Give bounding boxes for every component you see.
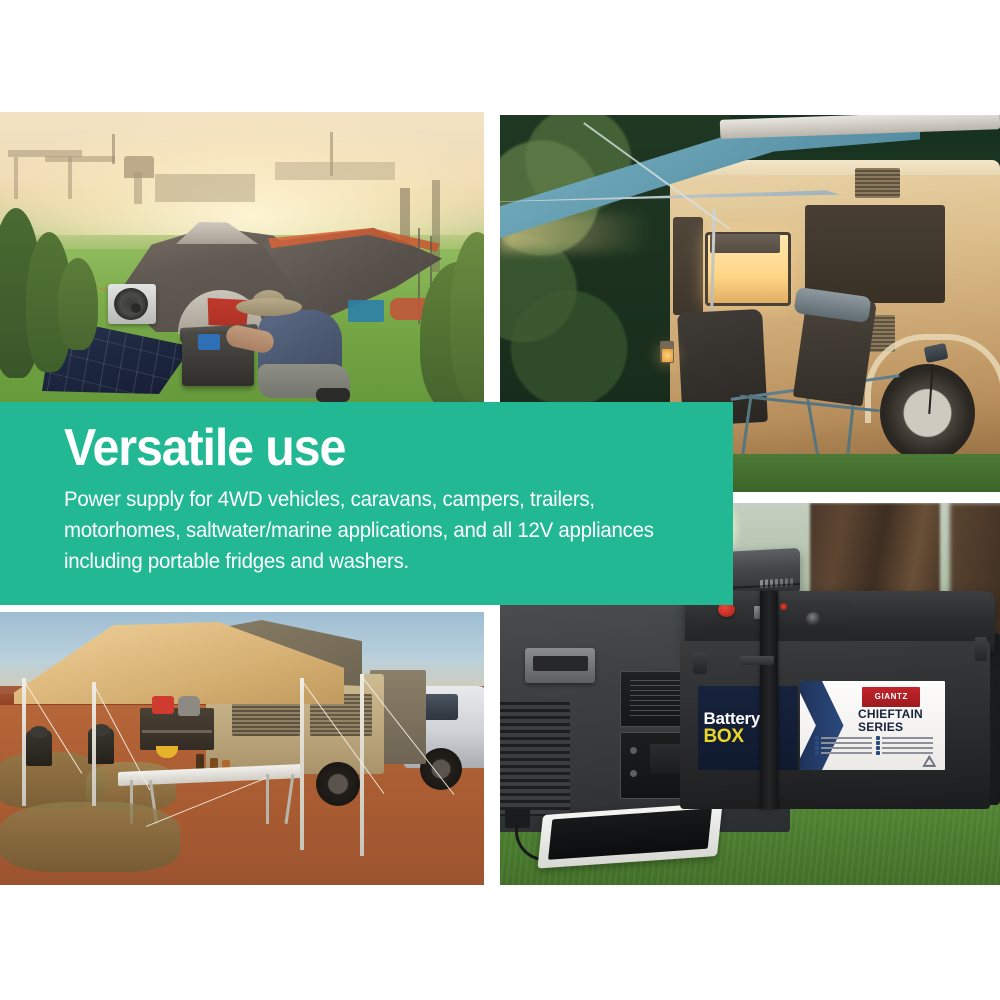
marketing-image-canvas: Battery BOX GIANTZ CHIEFTAIN SERIES [0, 0, 1000, 1000]
feature-item [815, 751, 872, 755]
banner-body-text: Power supply for 4WD vehicles, caravans,… [64, 484, 662, 576]
person-seated [30, 726, 48, 738]
handle-recess [533, 656, 588, 671]
background-building [275, 162, 395, 180]
check-icon [876, 741, 880, 745]
feature-checklist [815, 736, 940, 755]
battery-box-label-line2: BOX [704, 727, 798, 747]
background-structure [68, 157, 72, 199]
fan-blades [114, 288, 148, 320]
window-blind [710, 234, 780, 253]
background-structure [14, 157, 18, 199]
feature-text-line [821, 742, 872, 744]
lid-latch [693, 652, 707, 674]
lantern-flame [662, 349, 673, 362]
fridge-compressor-vent [500, 702, 570, 817]
vehicle-wheel [420, 748, 462, 790]
feature-text-line [821, 752, 872, 754]
check-icon [815, 741, 819, 745]
giantz-brand-text: GIANTZ [875, 692, 908, 701]
battery-box-name-label: Battery BOX [698, 686, 798, 770]
feature-text-line [821, 747, 872, 749]
background-building [155, 174, 255, 202]
feature-text-line [821, 737, 872, 739]
scrub-bush [0, 802, 180, 872]
kitchen-shelf [142, 730, 212, 733]
check-icon [815, 751, 819, 755]
feature-item [876, 741, 933, 745]
fan-hub [131, 303, 141, 313]
caravan-vent [855, 168, 900, 198]
versatile-use-banner: Versatile use Power supply for 4WD vehic… [0, 402, 733, 605]
caravan-side-panel [805, 205, 945, 303]
awning-pole [300, 678, 304, 850]
banner-heading: Versatile use [64, 422, 649, 475]
camp-kitchen [140, 708, 214, 750]
feature-item [876, 751, 933, 755]
check-icon [876, 751, 880, 755]
background-pole [112, 134, 115, 164]
campsite-solar-panel-photo [0, 112, 484, 404]
feature-item [815, 741, 872, 745]
check-icon [815, 736, 819, 740]
chieftain-series-label: GIANTZ CHIEFTAIN SERIES [800, 681, 945, 771]
giantz-brand-badge: GIANTZ [862, 687, 920, 707]
bucket-hat [236, 298, 302, 316]
feature-item [876, 746, 933, 750]
shrub [58, 258, 98, 350]
carry-handle [975, 637, 987, 661]
cooler-box [348, 300, 384, 322]
portable-fan [108, 284, 156, 324]
water-tower-leg [134, 172, 142, 204]
outback-camper-trailer-photo [0, 612, 484, 885]
awning-pole [22, 678, 26, 806]
australian-standards-icon [922, 755, 936, 767]
background-structure [45, 156, 115, 162]
feature-item [876, 736, 933, 740]
chevron-graphic-icon [800, 681, 844, 771]
feature-item [815, 746, 872, 750]
awning-pole [92, 682, 96, 806]
cigarette-socket-icon [806, 612, 821, 626]
feature-text-line [882, 747, 933, 749]
red-jug [152, 696, 174, 714]
battery-box-strap [760, 591, 778, 809]
series-line2: SERIES [858, 721, 923, 734]
check-icon [876, 746, 880, 750]
battery-box-label-line1: Battery [704, 710, 798, 727]
series-name-text: CHIEFTAIN SERIES [858, 708, 923, 733]
battery-meter [198, 334, 220, 350]
feature-item [815, 736, 872, 740]
feature-text-line [882, 742, 933, 744]
feature-text-line [882, 737, 933, 739]
table-leg [266, 774, 269, 824]
person-shoe [316, 388, 350, 402]
feature-text-line [882, 752, 933, 754]
caravan-door [673, 217, 703, 315]
cooking-pot [178, 696, 200, 716]
strap-buckle [740, 656, 774, 665]
check-icon [876, 736, 880, 740]
check-icon [815, 746, 819, 750]
trailer-wheel [316, 762, 360, 806]
